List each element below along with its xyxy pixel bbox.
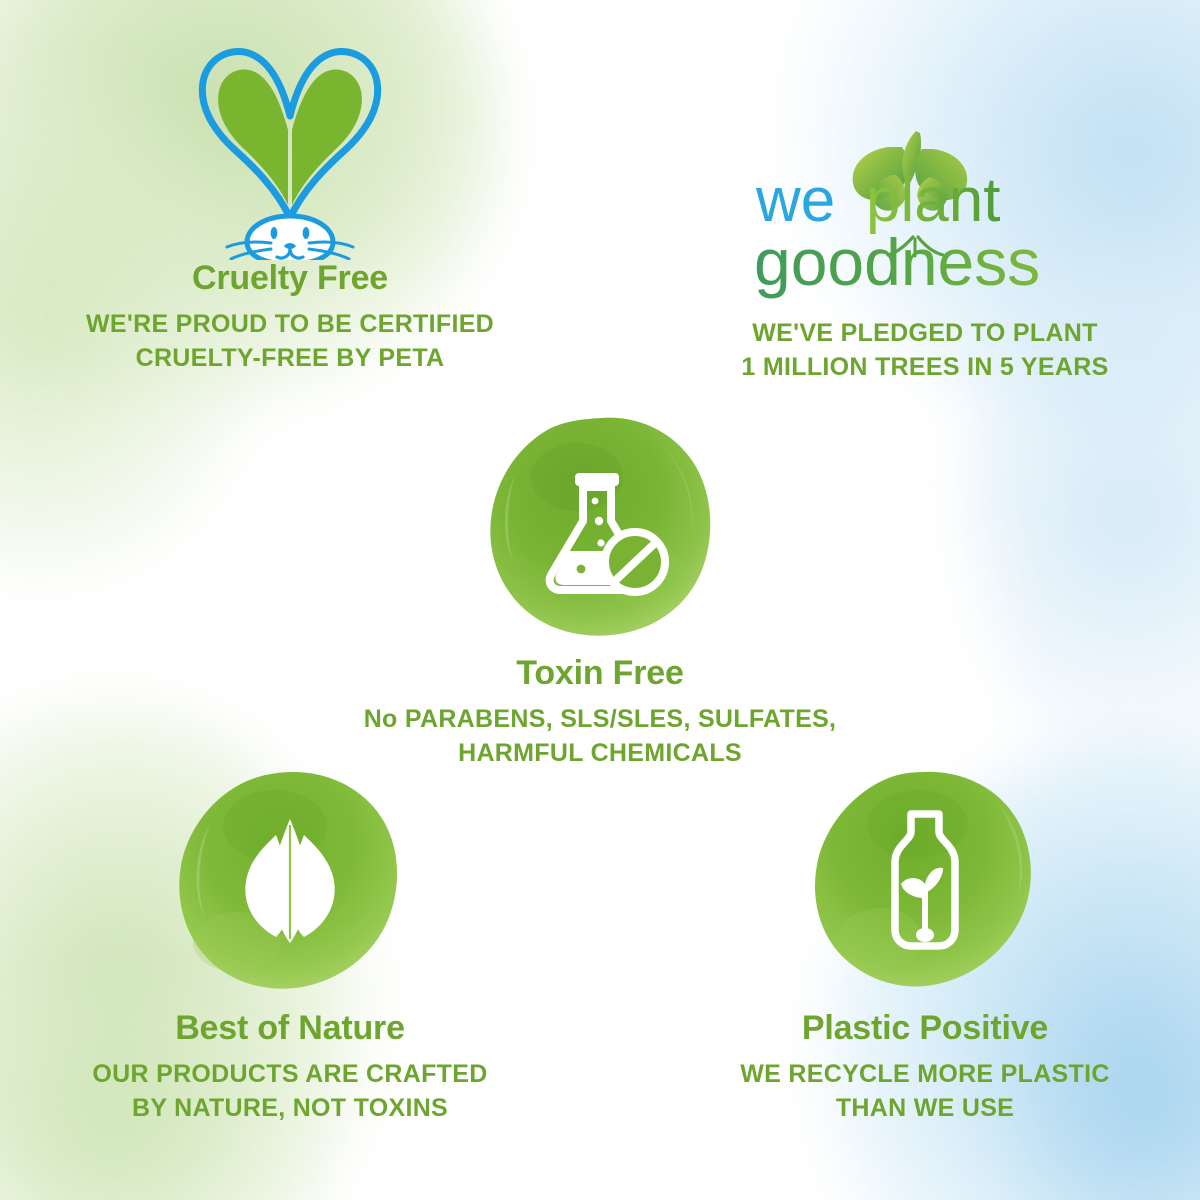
- badge-title-plastic-positive: Plastic Positive: [685, 1010, 1165, 1047]
- badge-desc-line: 1 MILLION TREES IN 5 YEARS: [670, 350, 1180, 384]
- badge-desc-line: HARMFUL CHEMICALS: [335, 736, 865, 770]
- badge-toxin-free: Toxin Free No PARABENS, SLS/SLES, SULFAT…: [335, 415, 865, 770]
- badge-plastic-positive: Plastic Positive WE RECYCLE MORE PLASTIC…: [685, 770, 1165, 1125]
- flask-no-entry-icon: [525, 451, 675, 601]
- logo-word-goodness: goodness: [754, 225, 1040, 299]
- badge-best-of-nature: Best of Nature OUR PRODUCTS ARE CRAFTED …: [35, 770, 545, 1125]
- plastic-positive-glyph-slot: [810, 770, 1040, 992]
- badge-desc-line: CRUELTY-FREE BY PETA: [25, 341, 555, 375]
- toxin-free-badge-circle: [485, 415, 715, 637]
- badge-desc-best-of-nature: OUR PRODUCTS ARE CRAFTED BY NATURE, NOT …: [35, 1057, 545, 1125]
- badge-desc-line: WE'RE PROUD TO BE CERTIFIED: [25, 307, 555, 341]
- cruelty-free-logo-slot: [25, 30, 555, 260]
- badge-title-toxin-free: Toxin Free: [335, 655, 865, 692]
- badge-desc-cruelty-free: WE'RE PROUD TO BE CERTIFIED CRUELTY-FREE…: [25, 307, 555, 375]
- badge-desc-toxin-free: No PARABENS, SLS/SLES, SULFATES, HARMFUL…: [335, 702, 865, 770]
- badge-cruelty-free: Cruelty Free WE'RE PROUD TO BE CERTIFIED…: [25, 30, 555, 375]
- badge-we-plant-goodness: we plant goodness WE'VE PLEDGED TO PLANT…: [670, 125, 1180, 384]
- badge-desc-line: WE'VE PLEDGED TO PLANT: [670, 316, 1180, 350]
- plastic-positive-badge-circle: [810, 770, 1040, 992]
- badge-desc-we-plant-goodness: WE'VE PLEDGED TO PLANT 1 MILLION TREES I…: [670, 316, 1180, 384]
- bottle-sprout-icon: [855, 806, 995, 956]
- toxin-free-glyph-slot: [485, 415, 715, 637]
- badge-title-best-of-nature: Best of Nature: [35, 1010, 545, 1047]
- badge-desc-line: No PARABENS, SLS/SLES, SULFATES,: [335, 702, 865, 736]
- three-leaves-icon: [220, 811, 360, 951]
- we-plant-goodness-logo-slot: we plant goodness: [670, 125, 1180, 300]
- badge-desc-line: WE RECYCLE MORE PLASTIC: [685, 1057, 1165, 1091]
- badge-desc-line: THAN WE USE: [685, 1091, 1165, 1125]
- best-of-nature-glyph-slot: [175, 770, 405, 992]
- best-of-nature-badge-circle: [175, 770, 405, 992]
- badge-desc-line: OUR PRODUCTS ARE CRAFTED: [35, 1057, 545, 1091]
- badges-layout: Cruelty Free WE'RE PROUD TO BE CERTIFIED…: [0, 0, 1200, 1200]
- bunny-heart-icon: [185, 30, 395, 260]
- sprout-logo-icon: we plant goodness: [750, 125, 1100, 300]
- badge-desc-line: BY NATURE, NOT TOXINS: [35, 1091, 545, 1125]
- badge-desc-plastic-positive: WE RECYCLE MORE PLASTIC THAN WE USE: [685, 1057, 1165, 1125]
- badge-title-cruelty-free: Cruelty Free: [25, 260, 555, 297]
